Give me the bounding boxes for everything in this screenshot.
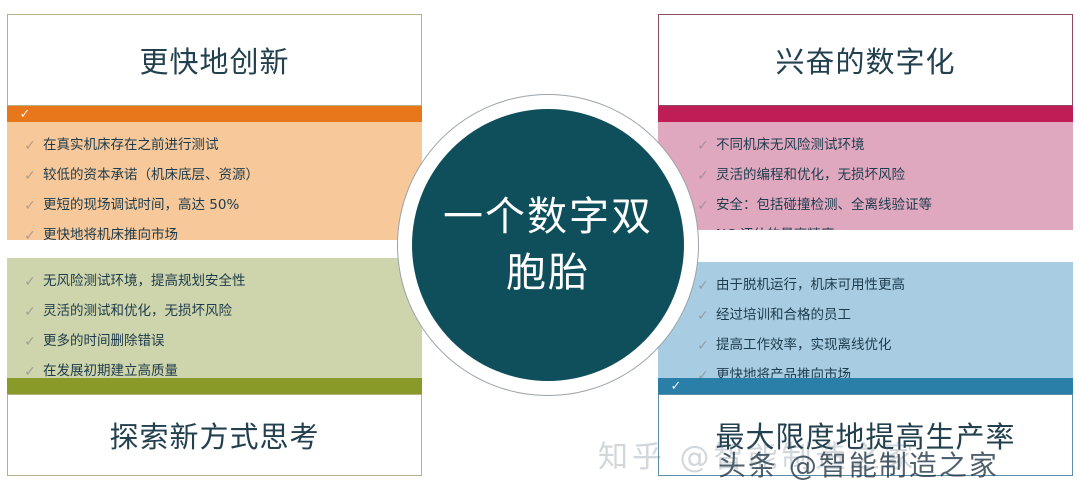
list-item-label: 提高工作效率，实现离线优化 <box>716 330 892 360</box>
quadrant-title-bottom-left: 探索新方式思考 <box>7 394 422 476</box>
list-item: ✓ 不同机床无风险测试环境 <box>690 130 1073 160</box>
list-item: ✓ 更快地将机床推向市场 <box>17 220 422 240</box>
list-item-label: 在真实机床存在之前进行测试 <box>43 130 219 160</box>
list-item: ✓ 较低的资本承诺（机床底层、资源） <box>17 160 422 190</box>
quadrant-title-text: 兴奋的数字化 <box>775 39 955 81</box>
list-item: ✓ 提高工作效率，实现离线优化 <box>690 330 1073 360</box>
list-item-label: NC 评估的最高精度 <box>716 220 834 230</box>
list-item-label: 在发展初期建立高质量 <box>43 356 178 378</box>
list-item-label: 安全：包括碰撞检测、全离线验证等 <box>716 190 932 220</box>
center-label-line1: 一个数字双 <box>443 189 653 245</box>
check-icon: ✓ <box>17 190 43 220</box>
list-item-label: 不同机床无风险测试环境 <box>716 130 865 160</box>
check-icon: ✓ <box>17 356 43 378</box>
bullet-panel-top-right: ✓ 不同机床无风险测试环境 ✓ 灵活的编程和优化，无损坏风险 ✓ 安全：包括碰撞… <box>658 122 1073 230</box>
list-item: ✓ 更快地将产品推向市场 <box>690 360 1073 378</box>
check-icon: ✓ <box>17 326 43 356</box>
list-item-label: 更快地将机床推向市场 <box>43 220 178 240</box>
center-disc: 一个数字双 胞胎 <box>412 109 684 381</box>
list-item-label: 更多的时间删除错误 <box>43 326 165 356</box>
list-item-label: 无风险测试环境，提高规划安全性 <box>43 266 246 296</box>
list-item-label: 较低的资本承诺（机床底层、资源） <box>43 160 259 190</box>
list-item: ✓ 在发展初期建立高质量 <box>17 356 422 378</box>
check-icon: ✓ <box>17 130 43 160</box>
list-item: ✓ 更短的现场调试时间，高达 50% <box>17 190 422 220</box>
center-hub: 一个数字双 胞胎 <box>398 95 698 395</box>
list-item-label: 经过培训和合格的员工 <box>716 300 851 330</box>
check-icon: ✓ <box>17 220 43 240</box>
accent-bar-bottom-right: ✓ <box>658 378 1073 394</box>
list-item-label: 灵活的测试和优化，无损坏风险 <box>43 296 232 326</box>
check-icon: ✓ <box>17 160 43 190</box>
quadrant-title-top-left: 更快地创新 <box>7 14 422 106</box>
list-item-label: 更短的现场调试时间，高达 50% <box>43 190 239 220</box>
bullet-panel-top-left: ✓ 在真实机床存在之前进行测试 ✓ 较低的资本承诺（机床底层、资源） ✓ 更短的… <box>7 122 422 240</box>
quadrant-title-text: 最大限度地提高生产率 <box>715 414 1015 456</box>
list-item-label: 由于脱机运行，机床可用性更高 <box>716 270 905 300</box>
infographic-canvas: 更快地创新 ✓ ✓ 在真实机床存在之前进行测试 ✓ 较低的资本承诺（机床底层、资… <box>0 0 1080 490</box>
accent-bar-top-right <box>658 106 1073 122</box>
accent-bar-bottom-left: ✓ <box>7 378 422 394</box>
list-item: ✓ 经过培训和合格的员工 <box>690 300 1073 330</box>
bullet-panel-bottom-left: ✓ 无风险测试环境，提高规划安全性 ✓ 灵活的测试和优化，无损坏风险 ✓ 更多的… <box>7 258 422 378</box>
check-icon: ✓ <box>17 296 43 326</box>
list-item: ✓ 灵活的测试和优化，无损坏风险 <box>17 296 422 326</box>
check-icon: ✓ <box>7 106 43 122</box>
bullet-panel-bottom-right: ✓ 由于脱机运行，机床可用性更高 ✓ 经过培训和合格的员工 ✓ 提高工作效率，实… <box>658 262 1073 378</box>
center-label-line2: 胞胎 <box>506 245 590 301</box>
list-item: ✓ 更多的时间删除错误 <box>17 326 422 356</box>
quadrant-title-bottom-right: 最大限度地提高生产率 <box>658 394 1073 476</box>
list-item-label: 灵活的编程和优化，无损坏风险 <box>716 160 905 190</box>
list-item: ✓ NC 评估的最高精度 <box>690 220 1073 230</box>
quadrant-title-text: 探索新方式思考 <box>109 414 319 456</box>
check-icon: ✓ <box>17 266 43 296</box>
list-item: ✓ 灵活的编程和优化，无损坏风险 <box>690 160 1073 190</box>
list-item: ✓ 安全：包括碰撞检测、全离线验证等 <box>690 190 1073 220</box>
accent-bar-top-left: ✓ <box>7 106 422 122</box>
list-item: ✓ 由于脱机运行，机床可用性更高 <box>690 270 1073 300</box>
list-item: ✓ 在真实机床存在之前进行测试 <box>17 130 422 160</box>
quadrant-title-text: 更快地创新 <box>139 39 289 81</box>
list-item: ✓ 无风险测试环境，提高规划安全性 <box>17 266 422 296</box>
list-item-label: 更快地将产品推向市场 <box>716 360 851 378</box>
quadrant-title-top-right: 兴奋的数字化 <box>658 14 1073 106</box>
